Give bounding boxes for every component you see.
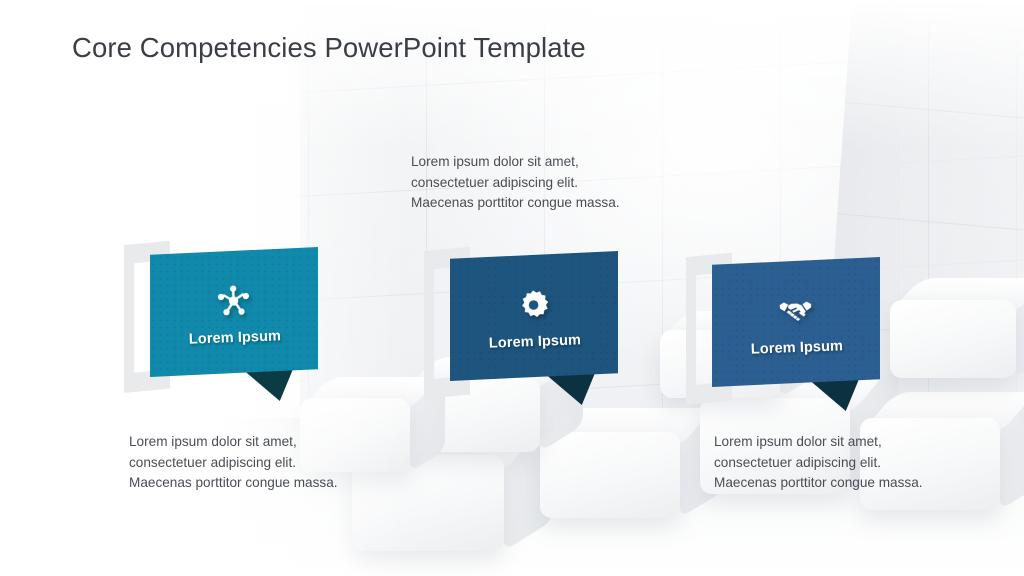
card-panel[interactable]: Lorem Ipsum: [712, 257, 880, 387]
cube-side-face: [1000, 390, 1024, 510]
network-hub-icon: [215, 282, 252, 319]
competency-card-2[interactable]: Lorem Ipsum: [424, 249, 664, 409]
card-label: Lorem Ipsum: [489, 332, 582, 351]
slide-canvas: Core Competencies PowerPoint Template Lo…: [0, 0, 1024, 576]
card-label: Lorem Ipsum: [751, 338, 844, 357]
competency-card-1[interactable]: Lorem Ipsum: [124, 243, 364, 403]
cube-top-face: [352, 428, 541, 472]
description-text-top: Lorem ipsum dolor sit amet, consectetuer…: [411, 152, 620, 214]
foreground-cube: [540, 432, 680, 518]
foreground-cube: [352, 455, 504, 551]
cube-side-face: [504, 425, 553, 551]
page-title: Core Competencies PowerPoint Template: [72, 32, 586, 64]
card-label: Lorem Ipsum: [189, 328, 282, 347]
cube-side-face: [1016, 275, 1024, 378]
cube-front-face: [540, 432, 680, 518]
competency-card-3[interactable]: Lorem Ipsum: [686, 255, 926, 415]
gear-icon: [515, 286, 552, 323]
card-panel[interactable]: Lorem Ipsum: [150, 247, 318, 377]
description-text-left: Lorem ipsum dolor sit amet, consectetuer…: [129, 432, 338, 494]
cube-front-face: [352, 455, 504, 551]
handshake-icon: [777, 292, 814, 329]
card-panel[interactable]: Lorem Ipsum: [450, 251, 618, 381]
description-text-right: Lorem ipsum dolor sit amet, consectetuer…: [714, 432, 923, 494]
